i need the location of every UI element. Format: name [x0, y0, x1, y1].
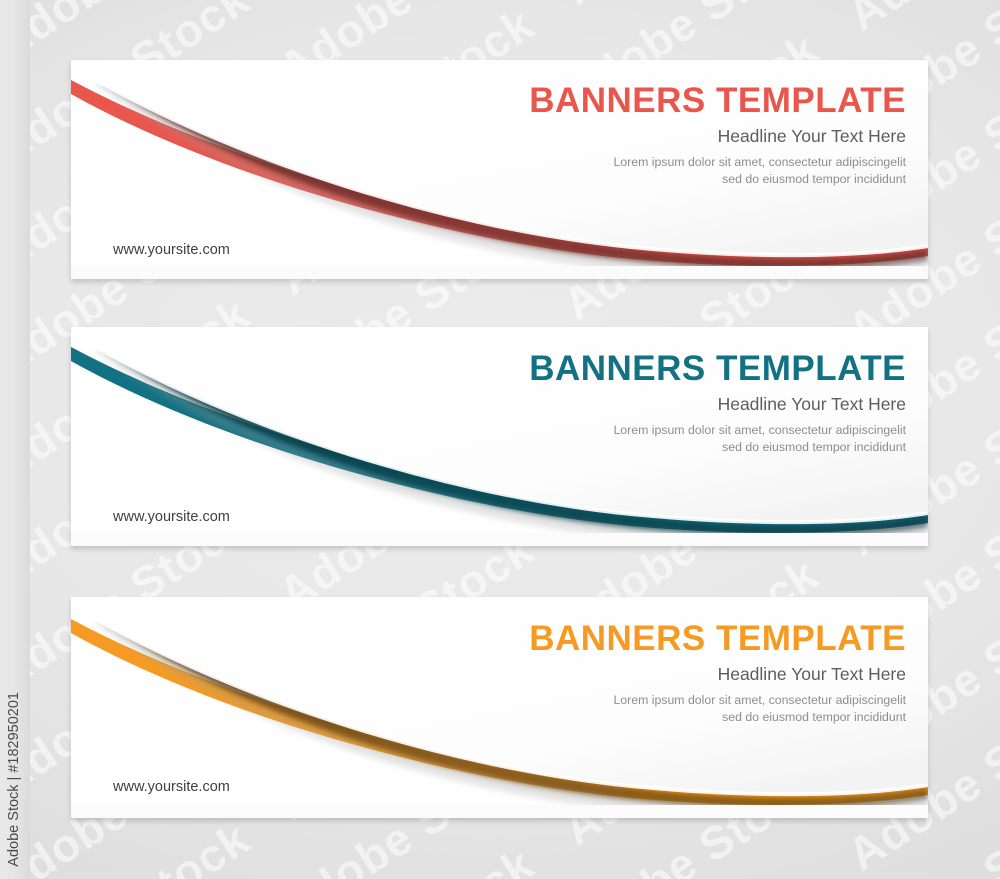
- banner-card-1[interactable]: BANNERS TEMPLATE Headline Your Text Here…: [71, 60, 928, 279]
- banner-body-line1-2: Lorem ipsum dolor sit amet, consectetur …: [529, 422, 906, 439]
- stock-id-label: Adobe Stock | #182950201: [0, 692, 30, 867]
- banner-title-2: BANNERS TEMPLATE: [529, 351, 906, 387]
- banner-text-block-2: BANNERS TEMPLATE Headline Your Text Here…: [529, 351, 906, 456]
- banner-url-2[interactable]: www.yoursite.com: [113, 509, 230, 525]
- banner-body-line1-1: Lorem ipsum dolor sit amet, consectetur …: [529, 154, 906, 171]
- stock-id-strip: Adobe Stock | #182950201: [0, 0, 30, 879]
- banner-text-block-3: BANNERS TEMPLATE Headline Your Text Here…: [529, 621, 906, 726]
- banner-body-line2-2: sed do eiusmod tempor incididunt: [529, 439, 906, 456]
- banner-body-line1-3: Lorem ipsum dolor sit amet, consectetur …: [529, 692, 906, 709]
- banner-card-3[interactable]: BANNERS TEMPLATE Headline Your Text Here…: [71, 597, 928, 818]
- banner-headline-2: Headline Your Text Here: [529, 394, 906, 415]
- banner-body-line2-1: sed do eiusmod tempor incididunt: [529, 171, 906, 188]
- canvas: Adobe Stock Adobe Stock Adobe Stock Adob…: [0, 0, 1000, 879]
- banner-card-2[interactable]: BANNERS TEMPLATE Headline Your Text Here…: [71, 327, 928, 546]
- banner-title-1: BANNERS TEMPLATE: [529, 83, 906, 119]
- banner-headline-3: Headline Your Text Here: [529, 664, 906, 685]
- banner-headline-1: Headline Your Text Here: [529, 126, 906, 147]
- banner-text-block-1: BANNERS TEMPLATE Headline Your Text Here…: [529, 83, 906, 188]
- banner-url-1[interactable]: www.yoursite.com: [113, 242, 230, 258]
- stock-id-text: Adobe Stock | #182950201: [6, 692, 22, 867]
- banner-body-line2-3: sed do eiusmod tempor incididunt: [529, 709, 906, 726]
- banner-url-3[interactable]: www.yoursite.com: [113, 779, 230, 795]
- banner-title-3: BANNERS TEMPLATE: [529, 621, 906, 657]
- watermark-row: Adobe Stock Adobe Stock Adobe Stock Adob…: [0, 0, 1000, 45]
